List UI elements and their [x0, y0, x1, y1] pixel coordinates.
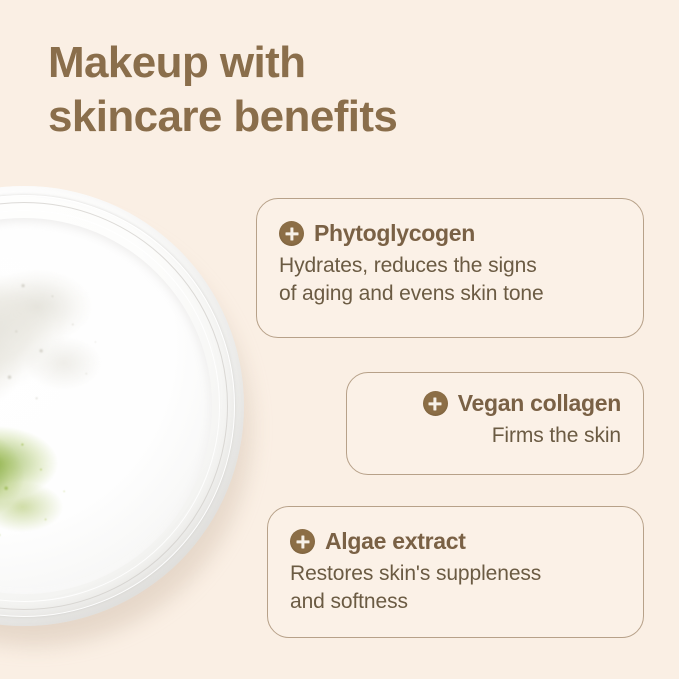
benefit-description: Hydrates, reduces the signs of aging and…	[279, 252, 621, 308]
benefit-description-line-1: Firms the skin	[369, 422, 621, 450]
benefit-description-line-2: and softness	[290, 588, 621, 616]
benefit-title: Algae extract	[325, 528, 466, 555]
benefit-title: Vegan collagen	[458, 390, 621, 417]
benefit-title: Phytoglycogen	[314, 220, 475, 247]
dish-well	[0, 218, 212, 594]
white-powder-mound	[0, 254, 118, 430]
page-title-line-1: Makeup with	[48, 36, 608, 90]
benefit-card-phytoglycogen: Phytoglycogen Hydrates, reduces the sign…	[256, 198, 644, 338]
benefit-card-content: Algae extract Restores skin's suppleness…	[268, 528, 643, 616]
benefit-card-algae-extract: Algae extract Restores skin's suppleness…	[267, 506, 644, 638]
plus-icon	[423, 391, 448, 416]
benefit-description: Restores skin's suppleness and softness	[290, 560, 621, 616]
benefit-card-header: Phytoglycogen	[279, 220, 621, 247]
plus-icon	[290, 529, 315, 554]
page-title: Makeup with skincare benefits	[48, 36, 608, 144]
benefit-card-vegan-collagen: Vegan collagen Firms the skin	[346, 372, 644, 475]
dish-shadow	[0, 208, 254, 648]
benefit-card-content: Vegan collagen Firms the skin	[347, 390, 643, 450]
page-title-line-2: skincare benefits	[48, 90, 608, 144]
benefit-card-header: Vegan collagen	[369, 390, 621, 417]
plus-icon	[279, 221, 304, 246]
dish-rim-ring-inner	[0, 210, 220, 602]
dish-rim-ring-middle	[0, 202, 228, 610]
benefit-card-header: Algae extract	[290, 528, 621, 555]
ceramic-dish	[0, 186, 244, 626]
benefit-description-line-1: Restores skin's suppleness	[290, 560, 621, 588]
benefit-description-line-2: of aging and evens skin tone	[279, 280, 621, 308]
dish-rim-ring-outer	[0, 195, 235, 617]
benefit-description-line-1: Hydrates, reduces the signs	[279, 252, 621, 280]
benefit-card-content: Phytoglycogen Hydrates, reduces the sign…	[257, 220, 643, 308]
product-photo	[0, 186, 256, 638]
green-powder-mound	[0, 404, 92, 560]
benefit-description: Firms the skin	[369, 422, 621, 450]
